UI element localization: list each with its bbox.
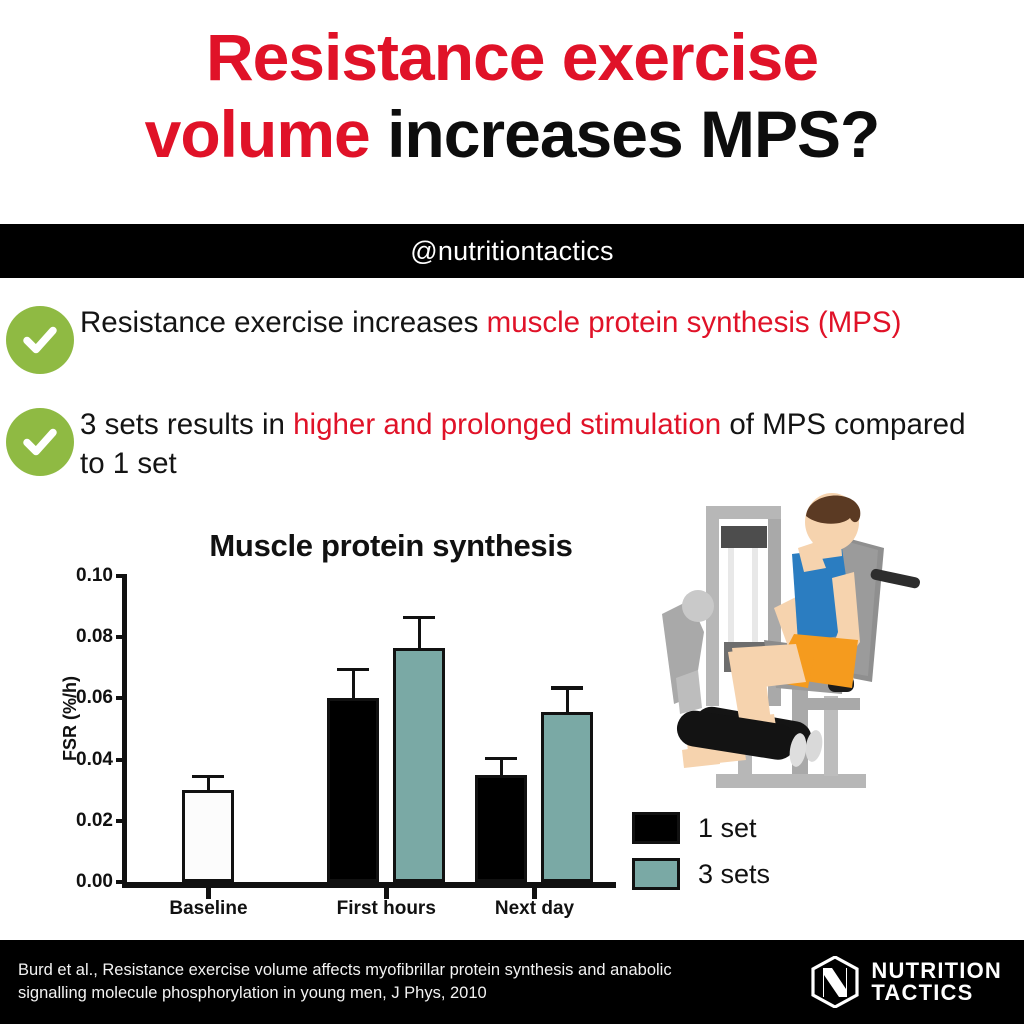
- citation-line-2: signalling molecule phosphorylation in y…: [18, 982, 801, 1005]
- leg-extension-machine-illustration: [646, 482, 1024, 802]
- chart-error-bar: [352, 668, 356, 699]
- chart-x-tick-label: Next day: [495, 898, 574, 920]
- headline-line1-red: Resistance exercise: [206, 20, 818, 94]
- handle-banner: @nutritiontactics: [0, 224, 1024, 278]
- chart-bar: [182, 790, 234, 882]
- chart-plot-area: 0.000.020.040.060.080.10BaselineFirst ho…: [122, 576, 616, 888]
- chart-error-cap: [485, 757, 517, 761]
- page-title: Resistance exercise volume increases MPS…: [0, 14, 1024, 216]
- legend-swatch: [632, 858, 680, 890]
- chart-error-cap: [337, 668, 369, 672]
- infographic-canvas: Resistance exercise volume increases MPS…: [0, 0, 1024, 1024]
- chart-title: Muscle protein synthesis: [156, 528, 626, 564]
- logo-line-2: TACTICS: [871, 982, 1002, 1004]
- check-icon: [6, 306, 74, 374]
- check-icon: [6, 408, 74, 476]
- social-handle: @nutritiontactics: [410, 236, 613, 267]
- chart-error-cap: [192, 775, 224, 779]
- chart-y-tick-label: 0.10: [76, 565, 113, 587]
- list-item: 3 sets results in higher and prolonged s…: [0, 402, 1024, 484]
- footer-bar: Burd et al., Resistance exercise volume …: [0, 940, 1024, 1024]
- chart-error-cap: [551, 686, 583, 690]
- chart-x-tick-label: Baseline: [169, 898, 247, 920]
- chart-y-tick: [116, 696, 127, 700]
- chart-error-bar: [566, 686, 570, 712]
- bullet-text-1: Resistance exercise increases muscle pro…: [80, 300, 1024, 343]
- list-item: Resistance exercise increases muscle pro…: [0, 300, 1024, 374]
- chart-bar: [475, 775, 527, 882]
- chart-y-tick-label: 0.02: [76, 810, 113, 832]
- chart-y-tick: [116, 574, 127, 578]
- logo-line-1: NUTRITION: [871, 960, 1002, 982]
- chart-y-tick: [116, 635, 127, 639]
- legend-item: 1 set: [632, 812, 770, 844]
- chart-y-axis: [122, 576, 127, 888]
- chart-bar: [541, 712, 593, 882]
- check-icon-wrap: [0, 300, 80, 374]
- chart-legend: 1 set3 sets: [632, 812, 770, 904]
- check-icon-wrap: [0, 402, 80, 476]
- chart-y-tick: [116, 758, 127, 762]
- bullet1-part-1: Resistance exercise increases: [80, 306, 487, 339]
- headline-line-2: volume increases MPS?: [0, 91, 1024, 168]
- headline-line-1: Resistance exercise: [0, 14, 1024, 91]
- bullet2-part-2: higher and prolonged stimulation: [293, 408, 721, 441]
- bullet2-part-1: 3 sets results in: [80, 408, 293, 441]
- chart-x-tick-label: First hours: [337, 898, 436, 920]
- brand-logo-text: NUTRITION TACTICS: [871, 960, 1002, 1005]
- chart-y-tick-label: 0.04: [76, 749, 113, 771]
- chart: Muscle protein synthesis FSR (%/h) 0.000…: [46, 528, 646, 928]
- bullet-text-2: 3 sets results in higher and prolonged s…: [80, 402, 1024, 484]
- chart-y-tick-label: 0.00: [76, 871, 113, 893]
- chart-y-tick-label: 0.06: [76, 687, 113, 709]
- chart-error-bar: [418, 616, 422, 648]
- bullet1-part-2: muscle protein synthesis (MPS): [487, 306, 902, 339]
- citation: Burd et al., Resistance exercise volume …: [0, 959, 811, 1006]
- brand-logo: NUTRITION TACTICS: [811, 956, 1024, 1008]
- chart-x-axis: [122, 882, 616, 888]
- legend-item: 3 sets: [632, 858, 770, 890]
- chart-y-tick-label: 0.08: [76, 626, 113, 648]
- hexagon-n-logo-icon: [811, 956, 859, 1008]
- headline-line2-black: increases MPS?: [387, 97, 879, 171]
- legend-swatch: [632, 812, 680, 844]
- headline-line2-red: volume: [145, 97, 370, 171]
- citation-line-1: Burd et al., Resistance exercise volume …: [18, 959, 801, 982]
- chart-y-tick: [116, 880, 127, 884]
- chart-y-tick: [116, 819, 127, 823]
- chart-bar: [327, 698, 379, 882]
- bullet-list: Resistance exercise increases muscle pro…: [0, 300, 1024, 506]
- legend-label: 1 set: [698, 813, 757, 844]
- legend-label: 3 sets: [698, 859, 770, 890]
- chart-bar: [393, 648, 445, 882]
- chart-error-cap: [403, 616, 435, 620]
